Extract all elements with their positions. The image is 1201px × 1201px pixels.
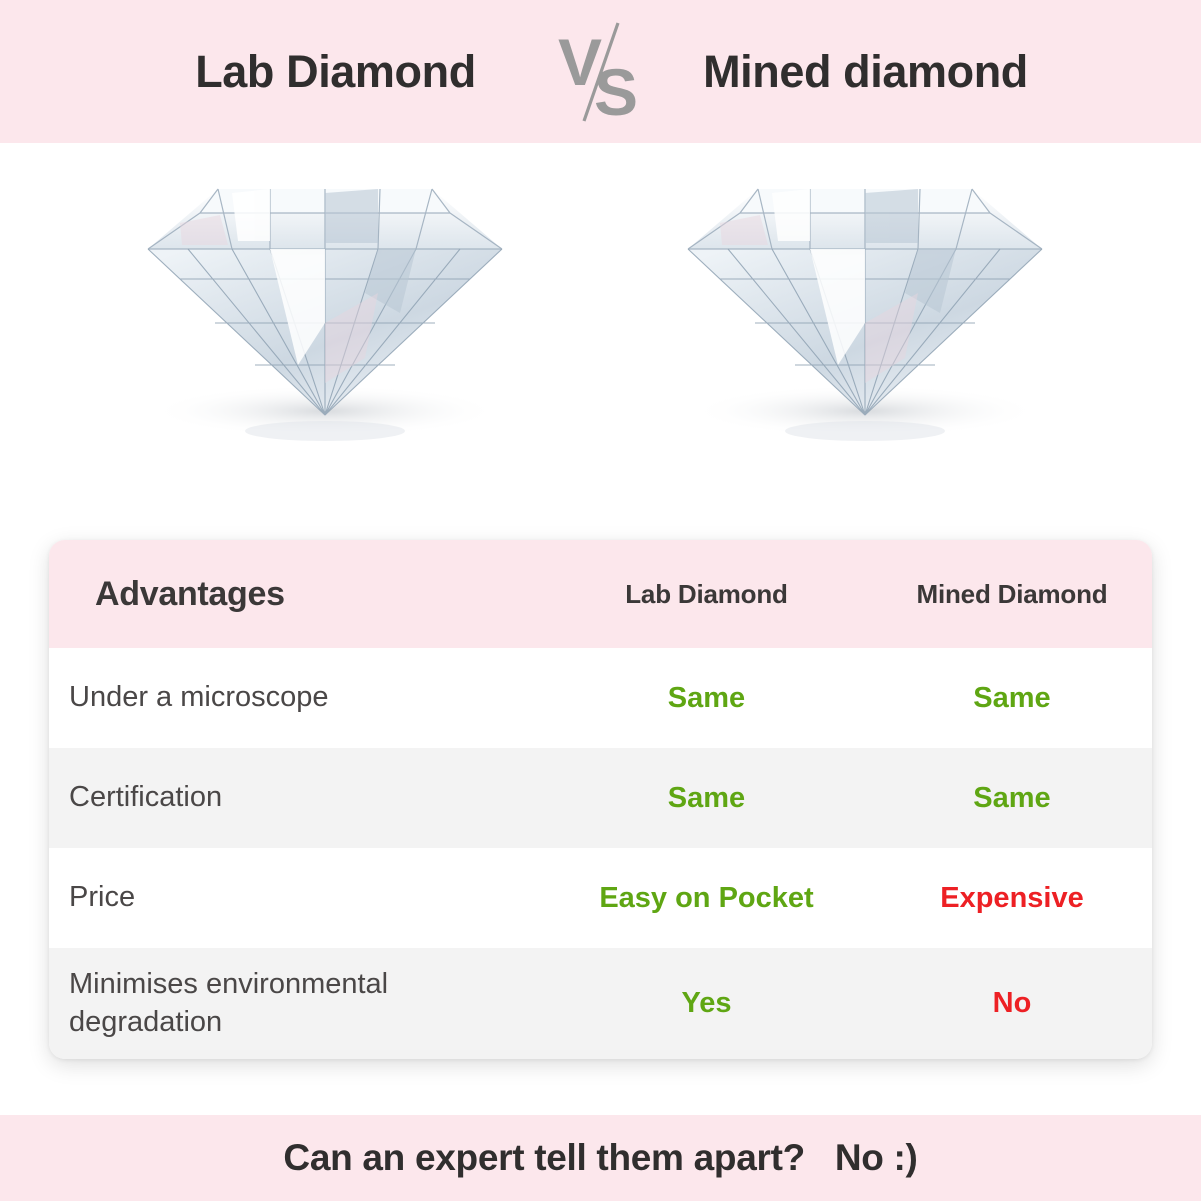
footer-band: Can an expert tell them apart? No :): [0, 1115, 1201, 1201]
lab-value-cell: Yes: [541, 948, 872, 1059]
header-band: Lab Diamond V S Mined diamond: [0, 0, 1201, 143]
diamond-image-area: [0, 143, 1201, 528]
header-title-mined: Mined diamond: [656, 46, 1076, 98]
svg-text:S: S: [594, 55, 638, 127]
table-row: Minimises environmental degradation Yes …: [49, 948, 1152, 1059]
lab-value-cell: Same: [541, 748, 872, 848]
feature-cell: Price: [49, 848, 541, 948]
mined-value: Same: [973, 682, 1050, 715]
table-header-row: Advantages Lab Diamond Mined Diamond: [49, 540, 1152, 648]
lab-value: Easy on Pocket: [599, 882, 813, 915]
header-cell-lab: Lab Diamond: [541, 540, 872, 648]
versus-icon: V S: [546, 17, 656, 127]
mined-value-cell: Expensive: [872, 848, 1152, 948]
comparison-table: Advantages Lab Diamond Mined Diamond Und…: [49, 540, 1152, 1059]
feature-label: Minimises environmental degradation: [69, 966, 519, 1041]
lab-value: Same: [668, 782, 745, 815]
mined-value-cell: Same: [872, 748, 1152, 848]
lab-value-cell: Easy on Pocket: [541, 848, 872, 948]
mined-value: Expensive: [940, 882, 1083, 915]
lab-value: Same: [668, 682, 745, 715]
mined-value: Same: [973, 782, 1050, 815]
lab-diamond-image: [120, 153, 520, 483]
feature-cell: Certification: [49, 748, 541, 848]
feature-cell: Minimises environmental degradation: [49, 948, 541, 1059]
mined-value-cell: No: [872, 948, 1152, 1059]
header-cell-advantages: Advantages: [49, 540, 541, 648]
table-row: Certification Same Same: [49, 748, 1152, 848]
header-title-lab: Lab Diamond: [126, 46, 546, 98]
mined-diamond-image: [660, 153, 1060, 483]
footer-question: Can an expert tell them apart? No :): [283, 1137, 917, 1179]
header-cell-mined: Mined Diamond: [872, 540, 1152, 648]
feature-label: Certification: [69, 779, 222, 817]
lab-column-label: Lab Diamond: [625, 579, 787, 610]
lab-value: Yes: [682, 987, 732, 1020]
mined-value: No: [993, 987, 1032, 1020]
table-row: Under a microscope Same Same: [49, 648, 1152, 748]
lab-value-cell: Same: [541, 648, 872, 748]
feature-label: Under a microscope: [69, 679, 329, 717]
mined-column-label: Mined Diamond: [917, 579, 1108, 610]
header-inner: Lab Diamond V S Mined diamond: [0, 17, 1201, 127]
mined-value-cell: Same: [872, 648, 1152, 748]
table-row: Price Easy on Pocket Expensive: [49, 848, 1152, 948]
feature-cell: Under a microscope: [49, 648, 541, 748]
advantages-label: Advantages: [95, 575, 285, 614]
feature-label: Price: [69, 879, 135, 917]
